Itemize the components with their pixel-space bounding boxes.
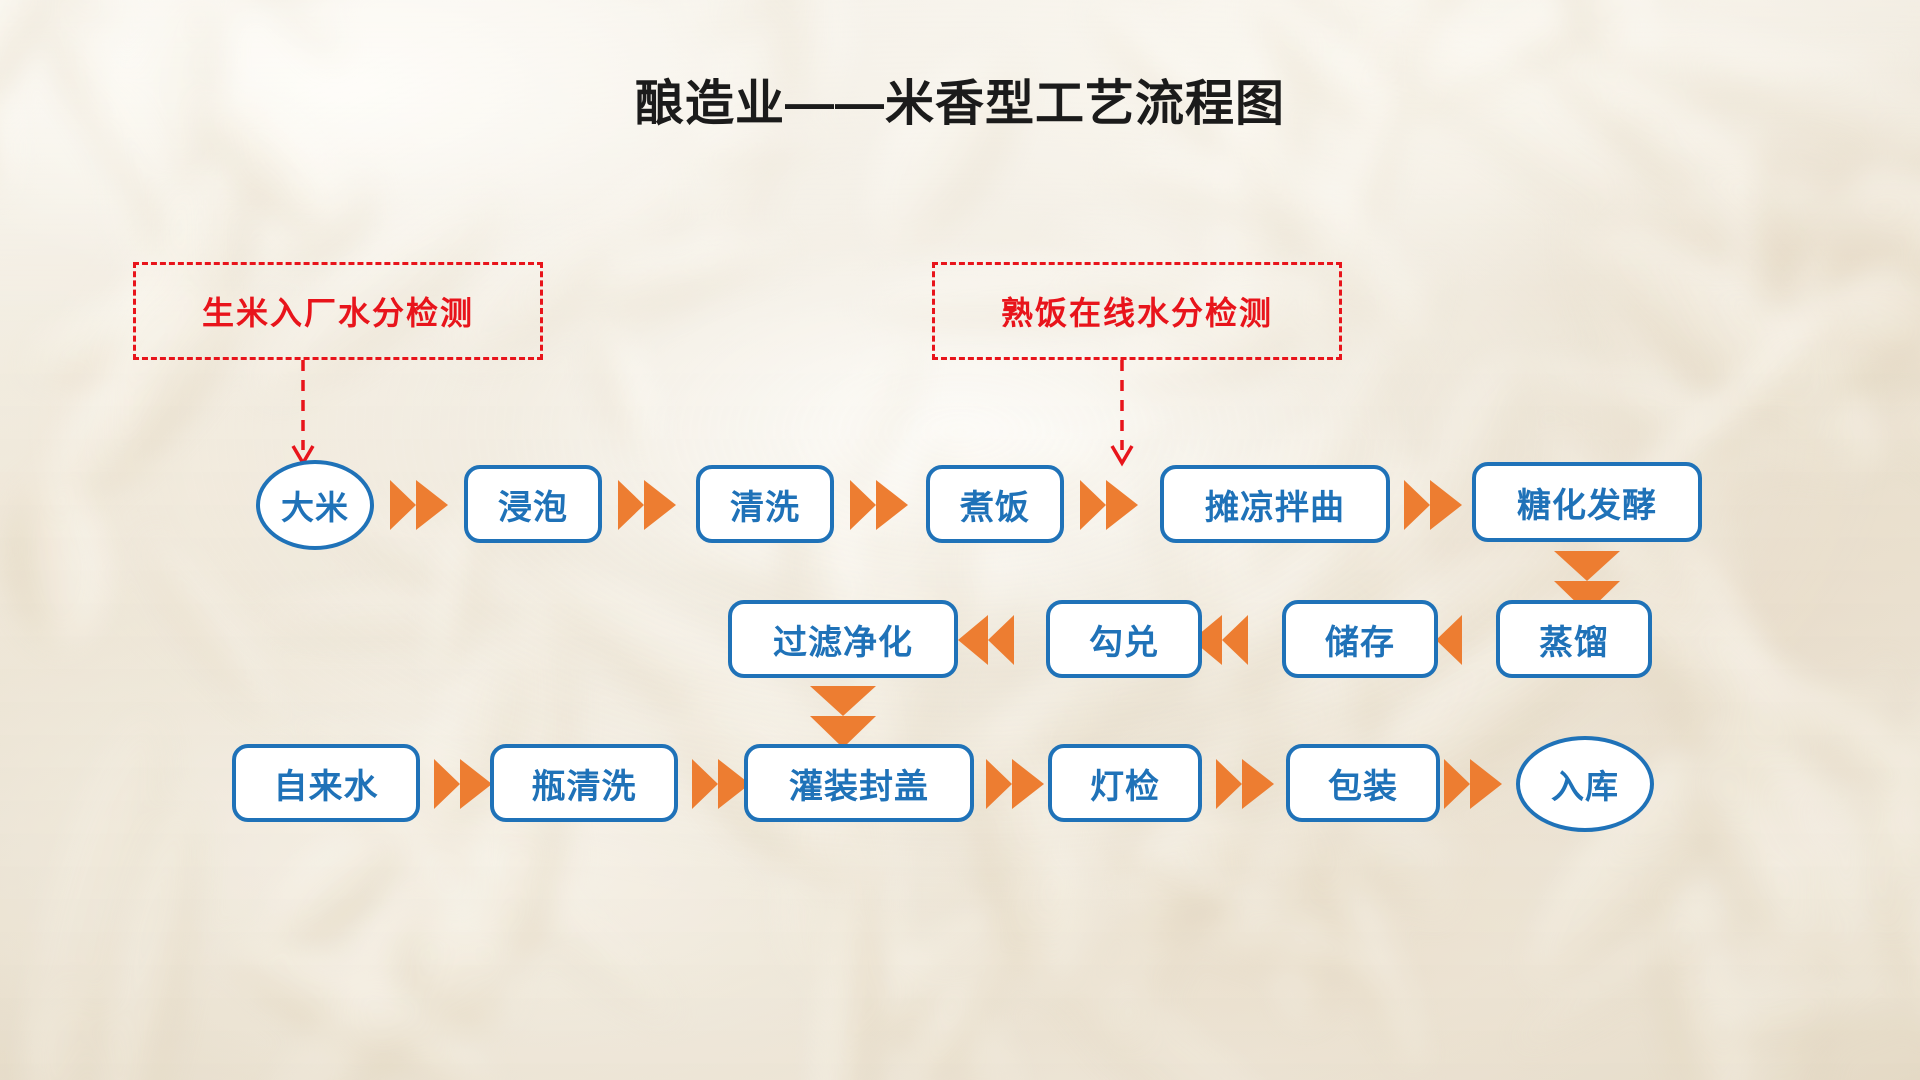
annotation-box-raw-rice-moisture: 生米入厂水分检测 — [133, 262, 543, 360]
arrow-wash-to-cook — [850, 478, 912, 532]
arrow-tap-water-to-bottle-wash — [434, 757, 496, 811]
arrow-cool-mix-qu-to-saccharify — [1404, 478, 1466, 532]
node-cook[interactable]: 煮饭 — [926, 465, 1064, 543]
node-blend[interactable]: 勾兑 — [1046, 600, 1202, 678]
node-rice[interactable]: 大米 — [256, 460, 374, 550]
node-wash[interactable]: 清洗 — [696, 465, 834, 543]
node-warehouse[interactable]: 入库 — [1516, 736, 1654, 832]
node-distill[interactable]: 蒸馏 — [1496, 600, 1652, 678]
connector-filter-purify-to-fill-cap — [808, 686, 878, 752]
arrow-lamp-inspect-to-package — [1216, 757, 1278, 811]
arrow-rice-to-soak — [390, 478, 452, 532]
annotation-box-cooked-rice-moisture: 熟饭在线水分检测 — [932, 262, 1342, 360]
arrow-blend-to-filter-purify — [956, 613, 1018, 667]
node-lamp-inspect[interactable]: 灯检 — [1048, 744, 1202, 822]
node-soak[interactable]: 浸泡 — [464, 465, 602, 543]
arrow-package-to-warehouse — [1444, 757, 1506, 811]
annotation-connector-raw-rice — [289, 360, 317, 470]
arrow-soak-to-wash — [618, 478, 680, 532]
node-fill-cap[interactable]: 灌装封盖 — [744, 744, 974, 822]
node-filter-purify[interactable]: 过滤净化 — [728, 600, 958, 678]
annotation-connector-cooked-rice — [1108, 360, 1136, 470]
node-saccharify-ferment[interactable]: 糖化发酵 — [1472, 462, 1702, 542]
arrow-fill-cap-to-lamp-inspect — [986, 757, 1048, 811]
node-storage[interactable]: 储存 — [1282, 600, 1438, 678]
node-tap-water[interactable]: 自来水 — [232, 744, 420, 822]
node-cool-mix-qu[interactable]: 摊凉拌曲 — [1160, 465, 1390, 543]
slide-canvas: 酿造业——米香型工艺流程图 生米入厂水分检测 熟饭在线水分检测 大米 浸泡 清洗 — [0, 0, 1920, 1080]
arrow-cook-to-cool-mix-qu — [1080, 478, 1142, 532]
node-bottle-wash[interactable]: 瓶清洗 — [490, 744, 678, 822]
node-package[interactable]: 包装 — [1286, 744, 1440, 822]
page-title: 酿造业——米香型工艺流程图 — [0, 64, 1920, 135]
